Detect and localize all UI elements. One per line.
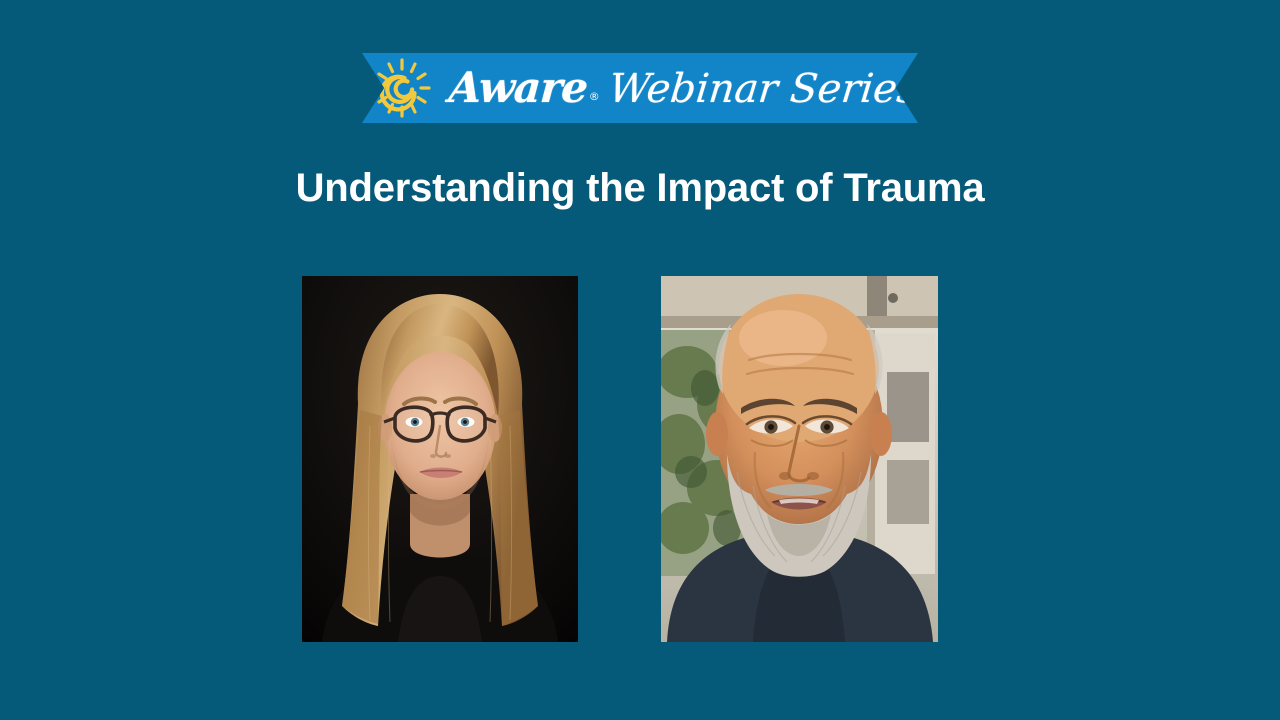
- aware-wordmark: Aware ® Webinar Series: [449, 67, 918, 109]
- aware-sun-spiral-icon: [371, 57, 433, 119]
- banner-content: Aware ® Webinar Series: [362, 53, 918, 123]
- brand-word: Aware: [447, 67, 588, 109]
- webinar-title-slide: Aware ® Webinar Series Understanding the…: [0, 0, 1280, 720]
- series-word: Webinar Series: [607, 69, 920, 109]
- aware-webinar-series-banner: Aware ® Webinar Series: [362, 53, 918, 123]
- speaker-photo-left: [302, 276, 578, 642]
- speaker-photo-right: [661, 276, 938, 642]
- registered-trademark-icon: ®: [589, 91, 600, 102]
- page-title: Understanding the Impact of Trauma: [0, 166, 1280, 211]
